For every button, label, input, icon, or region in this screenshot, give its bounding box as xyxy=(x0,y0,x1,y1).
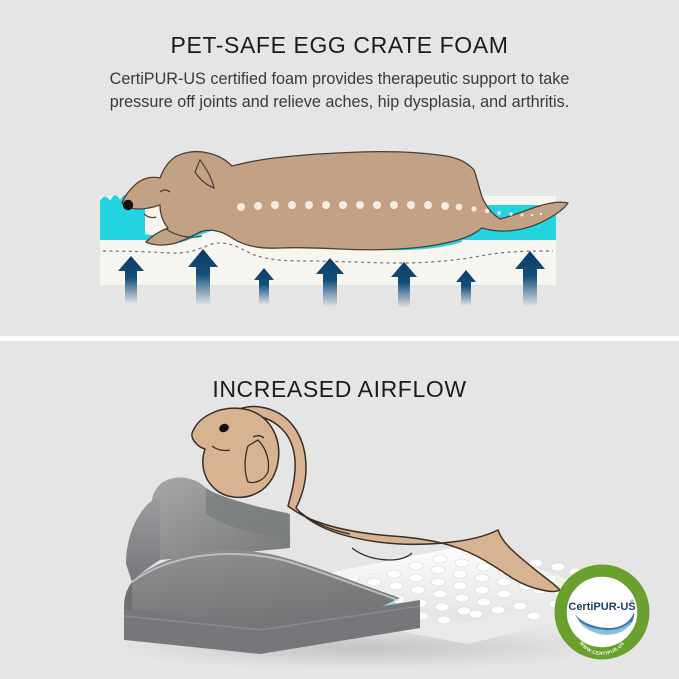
section-title-airflow: INCREASED AIRFLOW xyxy=(0,376,679,403)
section-egg-crate-foam: PET-SAFE EGG CRATE FOAM CertiPUR-US cert… xyxy=(0,0,679,338)
description-line-2: pressure off joints and relieve aches, h… xyxy=(110,93,570,111)
infographic-page: PET-SAFE EGG CRATE FOAM CertiPUR-US cert… xyxy=(0,0,679,679)
page-title: PET-SAFE EGG CRATE FOAM xyxy=(0,32,679,59)
description-line-1: CertiPUR-US certified foam provides ther… xyxy=(110,70,570,88)
section-increased-airflow: INCREASED AIRFLOW xyxy=(0,341,679,679)
section-description: CertiPUR-US certified foam provides ther… xyxy=(22,68,657,114)
